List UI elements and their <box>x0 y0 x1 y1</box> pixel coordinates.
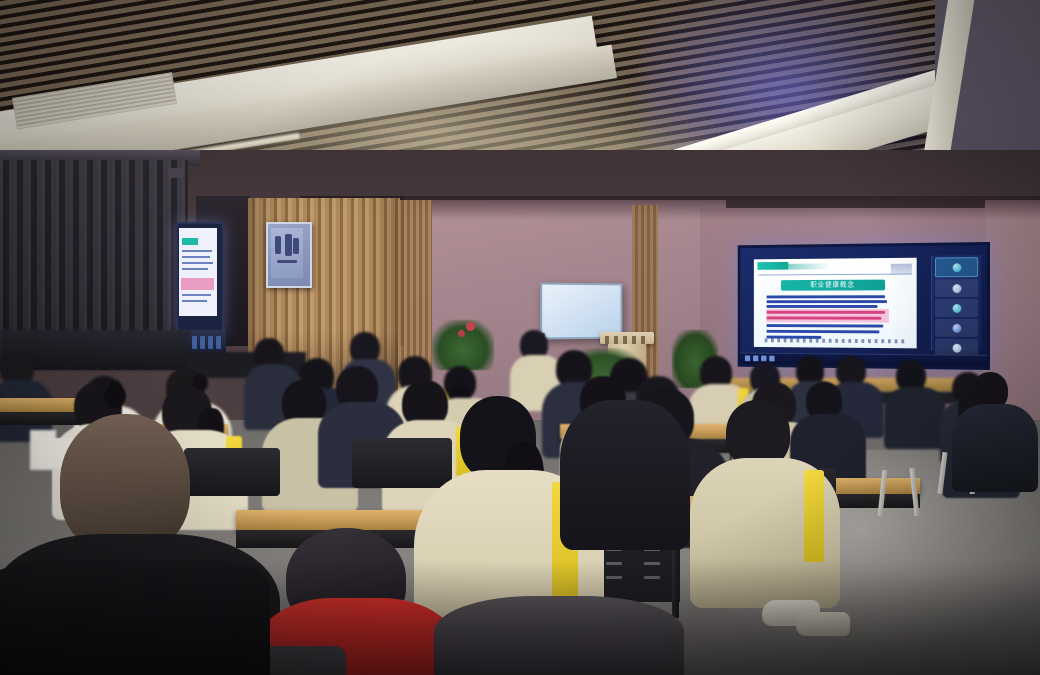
slide-footer-marks <box>765 338 905 343</box>
sidebar-item-0[interactable] <box>935 257 978 277</box>
main-led-display[interactable]: 职业健康概念 <box>738 242 990 370</box>
gear-app-icon <box>952 343 961 352</box>
display-app-sidebar[interactable] <box>931 255 981 351</box>
bottom-shadow <box>0 560 1040 675</box>
active-panel-icon <box>952 263 961 272</box>
podium-carving <box>605 336 649 344</box>
auxiliary-slide-title-band <box>182 238 198 245</box>
chair-back <box>352 438 452 488</box>
framed-poster-image <box>271 228 303 278</box>
circle-app-icon <box>952 284 961 293</box>
security-camera-icon <box>168 168 184 178</box>
sidebar-item-1[interactable] <box>935 279 978 297</box>
slide-title: 职业健康概念 <box>781 280 885 291</box>
auxiliary-slide-highlight <box>181 278 214 290</box>
slide-rule-line <box>758 274 912 276</box>
wall-top-shadow <box>380 196 1040 220</box>
media-icon[interactable] <box>769 356 774 362</box>
slide-accent-swoosh <box>788 263 830 269</box>
whiteboard[interactable] <box>540 283 622 340</box>
sidebar-item-2[interactable] <box>935 299 978 317</box>
red-flower <box>458 330 465 337</box>
folder-icon[interactable] <box>753 355 758 361</box>
red-flower <box>466 322 475 331</box>
chair-back <box>184 448 280 496</box>
globe-app-icon <box>952 304 961 313</box>
browser-icon[interactable] <box>761 356 766 362</box>
person-app-icon <box>952 323 961 332</box>
slide-watermark-logo <box>891 264 912 275</box>
person-front-dark <box>560 400 690 550</box>
training-room-photo: 职业健康概念 <box>0 0 1040 675</box>
presentation-slide[interactable]: 职业健康概念 <box>754 258 917 349</box>
sidebar-item-3[interactable] <box>935 319 978 337</box>
slide-accent-tab <box>757 262 788 270</box>
potted-plant <box>432 320 494 370</box>
start-icon[interactable] <box>745 355 750 361</box>
